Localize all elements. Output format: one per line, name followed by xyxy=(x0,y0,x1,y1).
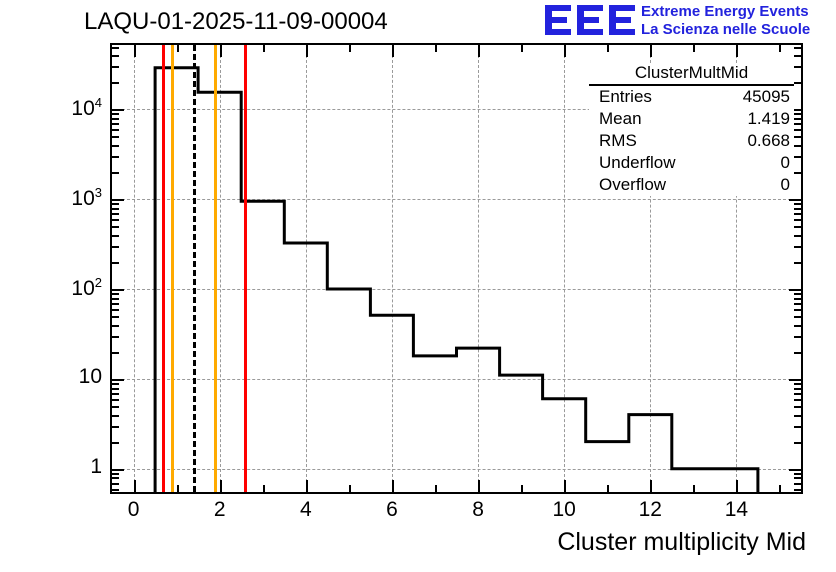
stats-row: Underflow0 xyxy=(589,152,794,174)
stats-row: Mean1.419 xyxy=(589,108,794,130)
stats-rows: Entries45095Mean1.419RMS0.668Underflow0O… xyxy=(589,86,794,196)
x-tick-label: 10 xyxy=(544,498,584,522)
x-tick-label: 14 xyxy=(716,498,756,522)
root-canvas: LAQU-01-2025-11-09-00004 Extreme Energy … xyxy=(0,0,836,572)
stats-row-key: Entries xyxy=(599,87,652,107)
eee-logo-text: Extreme Energy Events La Scienza nelle S… xyxy=(641,3,810,39)
x-tick-label: 6 xyxy=(372,498,412,522)
stats-row-key: Mean xyxy=(599,109,642,129)
red-line-high xyxy=(244,45,247,492)
stats-row-value: 0 xyxy=(781,175,790,195)
x-tick-label: 0 xyxy=(114,498,154,522)
stats-row: Entries45095 xyxy=(589,86,794,108)
orange-line-low xyxy=(171,45,174,492)
eee-logo-line1: Extreme Energy Events xyxy=(641,3,810,21)
stats-row-key: Underflow xyxy=(599,153,676,173)
stats-row-value: 1.419 xyxy=(747,109,790,129)
stats-row: RMS0.668 xyxy=(589,130,794,152)
red-line-low xyxy=(162,45,165,492)
stats-header: ClusterMultMid xyxy=(589,63,794,86)
page-title: LAQU-01-2025-11-09-00004 xyxy=(84,8,388,36)
stats-box: ClusterMultMid Entries45095Mean1.419RMS0… xyxy=(589,63,794,196)
y-tick-label: 1 xyxy=(90,455,102,479)
x-axis-title: Cluster multiplicity Mid xyxy=(557,528,806,557)
stats-row: Overflow0 xyxy=(589,174,794,196)
y-tick-label: 104 xyxy=(71,95,102,121)
x-tick-label: 2 xyxy=(200,498,240,522)
stats-row-value: 45095 xyxy=(743,87,790,107)
eee-mark-icon xyxy=(545,3,639,39)
stats-row-key: RMS xyxy=(599,131,637,151)
x-tick-label: 12 xyxy=(630,498,670,522)
stats-row-key: Overflow xyxy=(599,175,666,195)
orange-line-high xyxy=(214,45,217,492)
black-dashed-line-mean xyxy=(193,45,196,492)
y-tick-label: 10 xyxy=(79,365,102,389)
y-tick-label: 103 xyxy=(71,185,102,211)
eee-logo-line2: La Scienza nelle Scuole xyxy=(641,21,810,39)
stats-row-value: 0.668 xyxy=(747,131,790,151)
eee-logo: Extreme Energy Events La Scienza nelle S… xyxy=(545,1,833,41)
x-tick-label: 8 xyxy=(458,498,498,522)
y-tick-label: 102 xyxy=(71,275,102,301)
stats-row-value: 0 xyxy=(781,153,790,173)
x-tick-label: 4 xyxy=(286,498,326,522)
